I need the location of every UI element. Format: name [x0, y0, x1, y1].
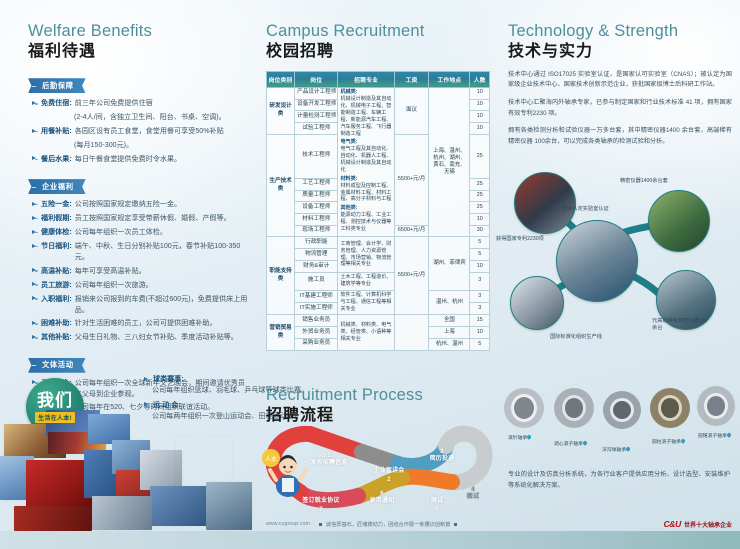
cell-salary: 面议: [394, 87, 429, 134]
cell-category: 生产技术类: [267, 134, 295, 237]
list-item: 节日福利:端午、中秋、生日分别补贴100元，春节补贴100-350元。: [28, 241, 250, 263]
arrow-bullet-icon: [144, 376, 150, 383]
process-step-3: 3 简历投递: [418, 448, 466, 464]
square-bullet-icon: [319, 523, 322, 526]
major-body: 土木工程、工程造价、建筑学等专业: [340, 274, 391, 287]
welfare-section-logistics: 后勤保障 免费住宿: 前三年公司免费提供住宿 (2-4人/间，含独立卫生间、阳台…: [28, 75, 250, 165]
bearing-caption-4: 圆锥滚子轴承: [698, 432, 731, 439]
bearing-caption-1: 调心滚子轴承: [554, 440, 587, 447]
process-step-7: 签订就业协议 7: [292, 498, 350, 514]
recruitment-content: Campus Recruitment 校园招聘 岗位类别 岗位 招聘专业 工资 …: [266, 22, 490, 351]
list-item: 员工旅游:公司每年组织一次旅游。: [28, 280, 250, 291]
cell-count: 25: [470, 202, 490, 214]
benefit-label: 入职福利:: [41, 294, 72, 305]
cell-position: 质量工程师: [295, 190, 338, 202]
caption-highend: 元高端稀有精密仪器100余台: [652, 318, 710, 332]
footer-slogan: 诚信厚基石，匠魂铸动力，团结合作展一条腰识创新篇: [326, 521, 451, 528]
benefit-label: 高温补贴:: [41, 266, 72, 277]
major-body: 能源动力工程、工业工程、测控技术与仪器等工科类专业: [340, 212, 391, 232]
cell-location: 上海: [429, 327, 470, 339]
technology-column: Technology & Strength 技术与实力 技术中心通过 ISO17…: [496, 0, 740, 549]
company-logo: C&U 世界十大轴承企业: [663, 519, 732, 529]
photo-circle-line: [510, 276, 564, 330]
cell-location: 温州、杭州: [429, 290, 470, 315]
major-body: 电气工程及其自动化、自动化、机器人工程、机械设计制造及其自动化: [340, 146, 391, 173]
cell-position: 设备工程师: [295, 202, 338, 214]
arrow-bullet-icon: [32, 155, 38, 162]
bearing-caption-3: 圆柱滚子轴承: [652, 438, 685, 445]
col-count: 人数: [470, 71, 490, 87]
cell-major: 工商管理、会计学、财务管理、人力资源管理、市场营销、物流管理等相关专业: [338, 237, 394, 272]
welfare-column: Welfare Benefits 福利待遇 后勤保障 免费住宿: 前三年公司免费…: [0, 0, 258, 549]
process-title-en: Recruitment Process: [266, 386, 494, 405]
cell-position: 设备开发工程师: [295, 99, 338, 111]
arrow-bullet-icon: [32, 281, 38, 288]
cell-count: 30: [470, 225, 490, 237]
drop-icon: [727, 433, 731, 438]
cell-count: 10: [470, 327, 490, 339]
table-row: 营销贸易类 销售业务员 机械类、材料类、电气类、经管类、小语种等相关专业 全国 …: [267, 315, 490, 327]
process-step-1: 1 发布招聘信息: [300, 452, 358, 468]
table-row: IT基建工程师 软件工程、计算机科学与工程、通信工程等相关专业 温州、杭州 3: [267, 290, 490, 302]
benefit-text: 每年可享受高温补贴。: [75, 266, 250, 277]
cell-position: 工艺工程师: [295, 178, 338, 190]
arrow-bullet-icon: [32, 128, 38, 135]
cell-salary: 6500+元/月: [394, 225, 429, 237]
technology-footer-text: 专业的设计及仿真分析系统，为各行业客户提供应用分析、设计选型、安装维护等系统化解…: [508, 470, 730, 491]
technology-content: Technology & Strength 技术与实力 技术中心通过 ISO17…: [508, 22, 732, 148]
arrow-bullet-icon: [32, 267, 38, 274]
drop-icon: [527, 435, 531, 440]
activity-title: 球类赛事:: [153, 374, 184, 384]
process-step-6: 6 录用通知: [358, 490, 406, 506]
technology-photo-cluster: 获得国家专利2230项 国家认定实验室认证 精密仪器1400余台套 元高端稀有精…: [496, 158, 740, 358]
benefit-label: 健康体检:: [41, 227, 72, 238]
cell-count: 5: [470, 237, 490, 249]
cell-count: 10: [470, 213, 490, 225]
benefit-label: 困难补助:: [41, 318, 72, 329]
cell-position: 计量检测工程师: [295, 111, 338, 123]
benefit-list-corporate: 五险一金:公司按照国家规定缴纳五险一金。 福利假期:员工按照国家规定享受带薪休假…: [28, 199, 250, 343]
arrow-bullet-icon: [32, 215, 38, 222]
cell-count: 25: [470, 134, 490, 178]
benefit-label: 餐后水果:: [41, 154, 72, 165]
caption-patent: 获得国家专利2230项: [496, 236, 544, 243]
cell-count: 15: [470, 315, 490, 327]
arrow-bullet-icon: [32, 243, 38, 250]
cell-category: 营销贸易类: [267, 315, 295, 350]
list-item: 免费住宿: 前三年公司免费提供住宿: [28, 98, 250, 109]
cell-position: 行政职能: [295, 237, 338, 249]
benefit-text: 各园区设有员工食堂，食堂用餐可享受50%补贴: [75, 126, 250, 137]
major-body: 机械设计制造及其自动化、机械电子工程、智能制造工程、车辆工程、新能源汽车工程、汽…: [340, 96, 391, 136]
cell-count: 3: [470, 290, 490, 302]
benefit-label: 五险一金:: [41, 199, 72, 210]
benefit-text: 针对生活困难的员工，公司可提供困难补助。: [75, 318, 250, 329]
col-salary: 工资: [394, 71, 429, 87]
recruitment-column: Campus Recruitment 校园招聘 岗位类别 岗位 招聘专业 工资 …: [258, 0, 496, 549]
table-header-row: 岗位类别 岗位 招聘专业 工资 工作地点 人数: [267, 71, 490, 87]
cell-count: 10: [470, 87, 490, 99]
cell-count: 3: [470, 303, 490, 315]
col-position: 岗位: [295, 71, 338, 87]
major-title: 材料类:: [340, 176, 391, 183]
cell-category: 职能支持类: [267, 237, 295, 315]
cell-position: 销售业务员: [295, 315, 338, 327]
cell-count: 5: [470, 338, 490, 350]
benefit-text: 公司按照国家规定缴纳五险一金。: [75, 199, 250, 210]
cell-position: 物流管理: [295, 249, 338, 261]
logo-text: C&U: [663, 519, 681, 529]
cell-major: 土木工程、工程造价、建筑学等专业: [338, 272, 394, 290]
mascot-illustration: 人本: [262, 442, 308, 498]
section-tag-logistics: 后勤保障: [28, 78, 86, 93]
cell-salary: 5500+元/月: [394, 237, 429, 315]
cell-count: 10: [470, 99, 490, 111]
drop-icon: [583, 441, 587, 446]
welfare-content: Welfare Benefits 福利待遇 后勤保障 免费住宿: 前三年公司免费…: [28, 22, 250, 416]
cell-category: 研发设计类: [267, 87, 295, 134]
benefit-label: 其他补贴:: [41, 332, 72, 343]
major-body: 软件工程、计算机科学与工程、通信工程等相关专业: [340, 292, 391, 312]
bottom-bar: [0, 531, 740, 549]
major-body: 材料成型及控制工程、金属材料工程、材料工程、高分子材料与工程: [340, 183, 391, 203]
arrow-bullet-icon: [32, 100, 38, 107]
bearing-caption-0: 滚针轴承: [508, 434, 531, 441]
cell-salary: [394, 315, 429, 350]
list-item: 五险一金:公司按照国家规定缴纳五险一金。: [28, 199, 250, 210]
cell-count: 10: [470, 122, 490, 134]
cell-position: 采购业务员: [295, 338, 338, 350]
list-item: 用餐补贴: 各园区设有员工食堂，食堂用餐可享受50%补贴: [28, 126, 250, 137]
recruitment-process: Recruitment Process 招聘流程: [266, 386, 494, 514]
photo-circle-lab: [556, 220, 638, 302]
list-item: 其他补贴:父母生日礼物、三八妇女节补贴、季度活动补贴等。: [28, 332, 250, 343]
arrow-bullet-icon: [32, 295, 38, 302]
recruitment-title-cn: 校园招聘: [266, 42, 490, 63]
list-item: 餐后水果: 每日午餐食堂提供免费时令水果。: [28, 154, 250, 165]
list-item: 困难补助:针对生活困难的员工，公司可提供困难补助。: [28, 318, 250, 329]
process-step-5: 测试 5: [418, 498, 456, 514]
arrow-bullet-icon: [32, 229, 38, 236]
cell-location: 全国: [429, 315, 470, 327]
drop-icon: [626, 447, 630, 452]
table-row: 研发设计类 产品设计工程师 机械类:机械设计制造及其自动化、机械电子工程、智能制…: [267, 87, 490, 99]
list-item: 健康体检:公司每年组织一次员工体检。: [28, 227, 250, 238]
footer-url[interactable]: www.cugroup.com: [266, 521, 310, 527]
list-item: 入职福利:报销来公司报到的车费(不超过600元)，免费提供床上用品。: [28, 294, 250, 316]
benefit-label: 免费住宿:: [41, 98, 72, 109]
section-tag-corporate: 企业福利: [28, 179, 86, 194]
cell-position: 财务&审计: [295, 260, 338, 272]
list-item: 福利假期:员工按照国家规定享受带薪休假、婚假、产假等。: [28, 213, 250, 224]
square-bullet-icon: [454, 523, 457, 526]
cell-major: 机械类:机械设计制造及其自动化、机械电子工程、智能制造工程、车辆工程、新能源汽车…: [338, 87, 394, 237]
bearing-caption-2: 深沟球轴承: [602, 446, 630, 453]
cell-count: 10: [470, 260, 490, 272]
section-tag-culture: 文体活动: [28, 358, 86, 373]
cell-position: 外贸业务员: [295, 327, 338, 339]
process-step-2: 企业宣讲会 2: [362, 468, 416, 484]
drop-icon: [681, 439, 685, 444]
photo-circle-patent: [514, 172, 576, 234]
cell-count: 25: [470, 178, 490, 190]
cell-position: 产品设计工程师: [295, 87, 338, 99]
cell-count: 5: [470, 249, 490, 261]
cell-position: 现场工程师: [295, 225, 338, 237]
benefit-text: 员工按照国家规定享受带薪休假、婚假、产假等。: [75, 213, 250, 224]
welfare-title-cn: 福利待遇: [28, 42, 250, 63]
brochure-page: Welfare Benefits 福利待遇 后勤保障 免费住宿: 前三年公司免费…: [0, 0, 740, 549]
welfare-title-en: Welfare Benefits: [28, 22, 250, 41]
logo-subtitle: 世界十大轴承企业: [684, 520, 732, 529]
cell-position: IT基建工程师: [295, 290, 338, 302]
benefit-text: 公司每年组织一次员工体检。: [75, 227, 250, 238]
benefit-subtext: (2-4人/间，含独立卫生间、阳台、书桌、空调)。: [74, 112, 250, 123]
col-category: 岗位类别: [267, 71, 295, 87]
cell-major: 机械类、材料类、电气类、经管类、小语种等相关专业: [338, 315, 394, 350]
table-row: 职能支持类 行政职能 工商管理、会计学、财务管理、人力资源管理、市场营销、物流管…: [267, 237, 490, 249]
welfare-section-corporate: 企业福利 五险一金:公司按照国家规定缴纳五险一金。 福利假期:员工按照国家规定享…: [28, 176, 250, 344]
technology-title-en: Technology & Strength: [508, 22, 732, 41]
cell-position: 施工员: [295, 272, 338, 290]
cell-position: 技术工程师: [295, 134, 338, 178]
benefit-text: 公司每年组织一次旅游。: [75, 280, 250, 291]
major-body: 机械类、材料类、电气类、经管类、小语种等相关专业: [340, 322, 391, 342]
cell-count: 3: [470, 272, 490, 290]
benefit-text: 每日午餐食堂提供免费时令水果。: [75, 154, 250, 165]
benefit-label: 福利假期:: [41, 213, 72, 224]
cell-major: 软件工程、计算机科学与工程、通信工程等相关专业: [338, 290, 394, 315]
arrow-bullet-icon: [32, 201, 38, 208]
benefit-text: 端午、中秋、生日分别补贴100元，春节补贴100-350元。: [75, 241, 250, 263]
technology-paragraph-3: 拥有各类检测分析和试验仪器一万多台套，其中精密仪器1400 余台套，高端稀有精密…: [508, 126, 732, 147]
svg-text:人本: 人本: [265, 455, 277, 463]
technology-paragraph-2: 技术中心汇聚海内外轴承专家，已参与制定国家和行业技术标准 41 项，拥有国家有效…: [508, 98, 732, 119]
caption-instrument: 精密仪器1400余台套: [620, 178, 668, 185]
cell-salary: 5500+元/月: [394, 134, 429, 225]
col-major: 招聘专业: [338, 71, 394, 87]
benefit-text: 报销来公司报到的车费(不超过600元)，免费提供床上用品。: [75, 294, 250, 316]
cell-location: 上海、温州、杭州、湖州、黄石、南充、无锡: [429, 87, 470, 237]
col-location: 工作地点: [429, 71, 470, 87]
cell-position: 试验工程师: [295, 122, 338, 134]
cell-position: IT实施工程师: [295, 303, 338, 315]
cell-position: 材料工程师: [295, 213, 338, 225]
page-footer: www.cugroup.com 诚信厚基石，匠魂铸动力，团结合作展一条腰识创新篇…: [0, 517, 740, 531]
jobs-table: 岗位类别 岗位 招聘专业 工资 工作地点 人数 研发设计类 产品设计工程师: [266, 71, 490, 351]
list-item: 高温补贴:每年可享受高温补贴。: [28, 266, 250, 277]
benefit-subtext: (每月150-300元)。: [74, 140, 250, 151]
process-step-4: 4 面试: [458, 486, 488, 502]
cell-count: 10: [470, 111, 490, 123]
cell-count: 25: [470, 190, 490, 202]
technology-title-cn: 技术与实力: [508, 42, 732, 63]
benefit-label: 用餐补贴:: [41, 126, 72, 137]
benefit-text: 父母生日礼物、三八妇女节补贴、季度活动补贴等。: [75, 332, 250, 343]
technology-paragraph-1: 技术中心通过 ISO17025 实验室认证，是国家认可实验室（CNAS）；被认定…: [508, 70, 732, 91]
bearing-products: 滚针轴承 调心滚子轴承 深沟球轴承 圆柱滚子轴承 圆锥滚子轴承: [500, 382, 736, 462]
major-body: 工商管理、会计学、财务管理、人力资源管理、市场营销、物流管理等相关专业: [340, 241, 391, 268]
photo-circle-instrument: [648, 190, 710, 252]
badge-subtitle: 生活在人本!: [35, 412, 75, 423]
benefit-label: 节日福利:: [41, 241, 72, 252]
recruitment-title-en: Campus Recruitment: [266, 22, 490, 41]
benefit-list-logistics: 免费住宿: 前三年公司免费提供住宿 (2-4人/间，含独立卫生间、阳台、书桌、空…: [28, 98, 250, 164]
cell-location: 湖州、菲律宾: [429, 237, 470, 290]
caption-line: 国际标准化组织生产线: [550, 334, 602, 341]
benefit-text: 前三年公司免费提供住宿: [75, 98, 250, 109]
arrow-bullet-icon: [32, 320, 38, 327]
benefit-label: 员工旅游:: [41, 280, 72, 291]
cell-location: 杭州、温州: [429, 338, 470, 350]
caption-lab: 国家认定实验室认证: [562, 206, 609, 213]
arrow-bullet-icon: [32, 334, 38, 341]
